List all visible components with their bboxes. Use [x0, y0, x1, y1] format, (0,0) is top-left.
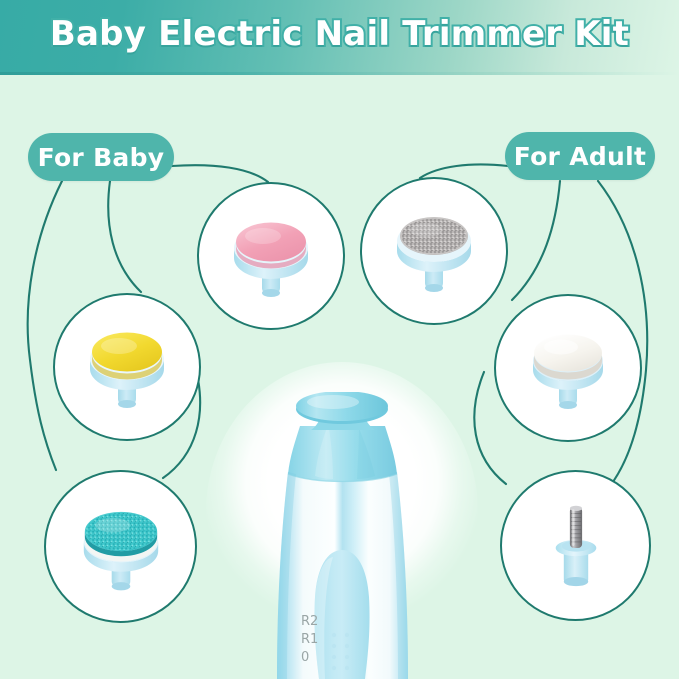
attachment-bubble-yellow-disc [53, 293, 201, 441]
product-infographic: Baby Electric Nail Trimmer Kit For Baby … [0, 0, 679, 679]
grey-sanding-disc-icon [374, 191, 494, 311]
speed-marking-r2: R2 [301, 614, 318, 629]
attachment-bubble-teal-disc [44, 470, 197, 623]
pink-polishing-disc-icon [211, 196, 331, 316]
label-pill-for-adult: For Adult [505, 132, 655, 180]
connector-baby-to-pink [172, 165, 268, 182]
label-for-baby-text: For Baby [38, 143, 165, 172]
header-banner: Baby Electric Nail Trimmer Kit [0, 0, 679, 75]
attachment-bubble-grey-disc [360, 177, 508, 325]
attachment-bubble-pink-disc [197, 182, 345, 330]
yellow-grinding-disc-icon [67, 307, 187, 427]
connector-adult-to-cream [512, 181, 560, 300]
metal-grinding-bit-icon [515, 485, 637, 607]
attachment-bubble-cream-disc [494, 294, 642, 442]
speed-marking-r1: R1 [301, 632, 318, 647]
connector-baby-to-yellow [28, 181, 62, 470]
connector-baby-to-yellow-inner [108, 181, 141, 292]
turquoise-sanding-disc-icon [59, 485, 183, 609]
device-collar [288, 426, 397, 482]
speed-marking-0: 0 [301, 650, 309, 665]
label-for-adult-text: For Adult [514, 142, 647, 171]
nail-trimmer-device: R2 R1 0 [255, 392, 430, 679]
white-buffing-disc-icon [508, 308, 628, 428]
attachment-bubble-drill-bit [500, 470, 651, 621]
page-title: Baby Electric Nail Trimmer Kit [0, 14, 679, 54]
label-pill-for-baby: For Baby [28, 133, 174, 181]
connector-adult-to-grey [420, 165, 508, 179]
